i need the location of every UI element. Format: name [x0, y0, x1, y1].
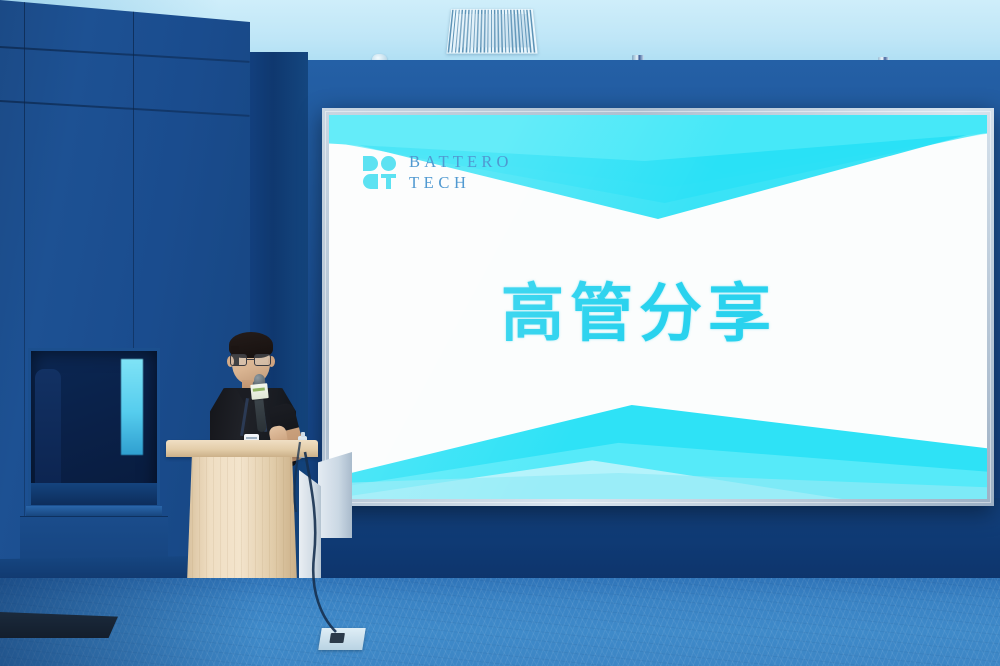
side-equipment-stand — [318, 452, 352, 538]
slide-headline-text: 高管分享 — [501, 263, 777, 354]
logo-shape-t — [381, 174, 396, 189]
floor-outlet-box — [318, 628, 365, 650]
eyeglasses-icon — [229, 354, 273, 366]
eyeglass-bridge — [247, 359, 254, 360]
battero-logo-mark-icon — [363, 156, 396, 189]
lectern-top-surface — [166, 440, 318, 457]
alcove-light-panel — [121, 359, 143, 455]
alcove-floor — [31, 483, 157, 505]
logo-shape-c — [363, 174, 378, 189]
conference-photo-scene: BATTERO TECH 高管分享 — [0, 0, 1000, 666]
slide-headline: 高管分享 — [329, 263, 987, 354]
battero-logo-wordmark: BATTERO TECH — [409, 151, 513, 193]
presentation-screen: BATTERO TECH 高管分享 — [329, 115, 987, 499]
eyeglass-lens-left — [230, 354, 247, 366]
logo-shape-circle — [381, 156, 396, 171]
carpet-floor — [0, 578, 1000, 666]
alcove-sill — [26, 506, 162, 516]
presentation-screen-frame: BATTERO TECH 高管分享 — [322, 108, 994, 506]
logo-word-line-1: BATTERO — [409, 151, 513, 172]
alcove-silhouette — [35, 369, 61, 489]
ceiling-air-vent-icon — [446, 9, 537, 54]
wall-alcove-window — [28, 348, 160, 508]
logo-word-line-2: TECH — [409, 172, 513, 193]
microphone-flag-label — [250, 383, 268, 400]
wall-panel-seam — [0, 100, 250, 116]
battero-logo: BATTERO TECH — [363, 151, 513, 193]
wall-panel-seam — [0, 46, 250, 62]
logo-shape-d — [363, 156, 378, 171]
eyeglass-lens-right — [254, 354, 271, 366]
